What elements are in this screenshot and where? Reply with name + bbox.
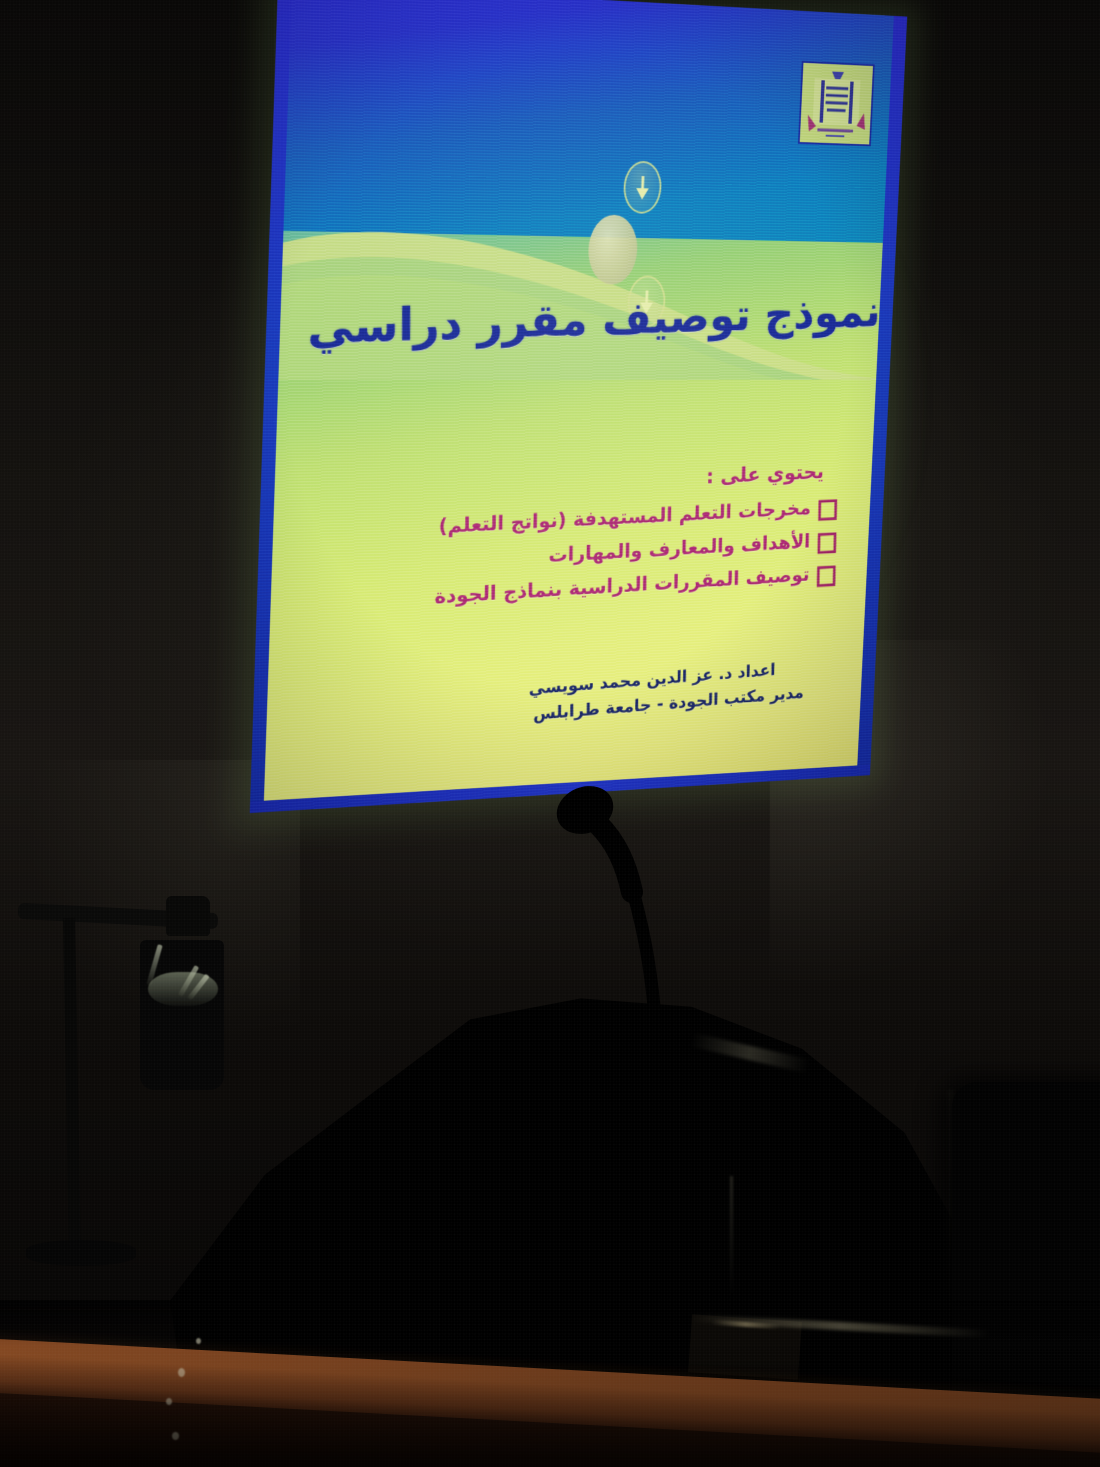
desk-lamp-base	[26, 1240, 136, 1266]
desk-glint	[196, 1338, 201, 1344]
list-item-label: الأهداف والمعارف والمهارات	[548, 529, 810, 568]
podium-seam	[730, 1176, 733, 1296]
desk-glint	[172, 1432, 179, 1440]
checkbox-bullet-icon	[817, 565, 836, 587]
slide-surface: نموذج توصيف مقرر دراسي يحتوي على : مخرجا…	[250, 0, 907, 813]
desk-lamp-head	[166, 896, 210, 936]
projection-screen: نموذج توصيف مقرر دراسي يحتوي على : مخرجا…	[250, 0, 907, 813]
checkbox-bullet-icon	[818, 499, 837, 521]
chair-back	[952, 1082, 1100, 1412]
photo-scene: نموذج توصيف مقرر دراسي يحتوي على : مخرجا…	[0, 0, 1100, 1467]
desk-glint	[166, 1398, 172, 1405]
checkbox-bullet-icon	[817, 532, 836, 554]
desk-glint	[178, 1368, 185, 1377]
university-quality-office-logo	[798, 61, 875, 146]
logo-artwork-icon	[800, 63, 873, 145]
